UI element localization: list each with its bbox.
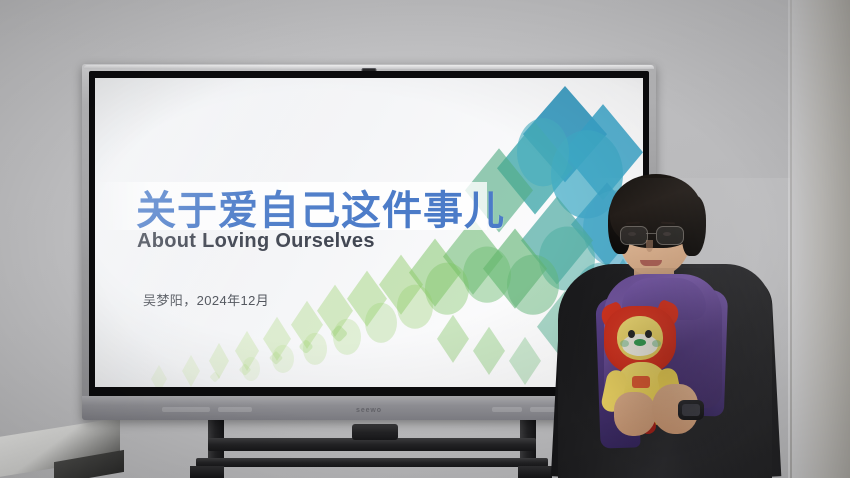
slide-title-english: About Loving Ourselves xyxy=(137,230,375,253)
slide-title-chinese: 关于爱自己这件事儿 xyxy=(136,178,505,236)
wall-corner-edge xyxy=(790,0,792,478)
mouth xyxy=(640,260,662,266)
bezel-port-group-left-1[interactable] xyxy=(162,407,210,412)
plush-toy-eye-left xyxy=(628,330,635,338)
plush-toy-eye-right xyxy=(645,330,652,338)
eyeglasses-lens-left xyxy=(620,226,648,245)
plush-toy-cheek-right xyxy=(652,340,661,347)
presenter xyxy=(560,178,790,478)
eyeglasses-bridge xyxy=(646,233,656,234)
bezel-port-group-left-2[interactable] xyxy=(218,407,252,412)
plush-toy-snout xyxy=(634,339,646,346)
wall-corner-right xyxy=(788,0,850,478)
bezel-port-group-right-2[interactable] xyxy=(492,407,522,412)
eyeglasses-lens-right xyxy=(656,226,684,245)
stand-foot-right xyxy=(518,466,552,478)
hand-left xyxy=(614,392,656,436)
stand-crossbar-lower xyxy=(196,458,548,467)
slide-byline: 吴梦阳，2024年12月 xyxy=(143,290,269,309)
stand-mount-bracket xyxy=(352,424,398,440)
stand-foot-left xyxy=(190,466,224,478)
display-brand-logo: seewo xyxy=(356,407,382,414)
ceiling-shadow xyxy=(0,0,850,52)
plush-toy-chest-badge xyxy=(632,376,650,388)
wristwatch xyxy=(678,400,704,420)
nose xyxy=(646,240,653,252)
plush-toy-cheek-left xyxy=(620,340,629,347)
photo-scene: 关于爱自己这件事儿 About Loving Ourselves 吴梦阳，202… xyxy=(0,0,850,478)
